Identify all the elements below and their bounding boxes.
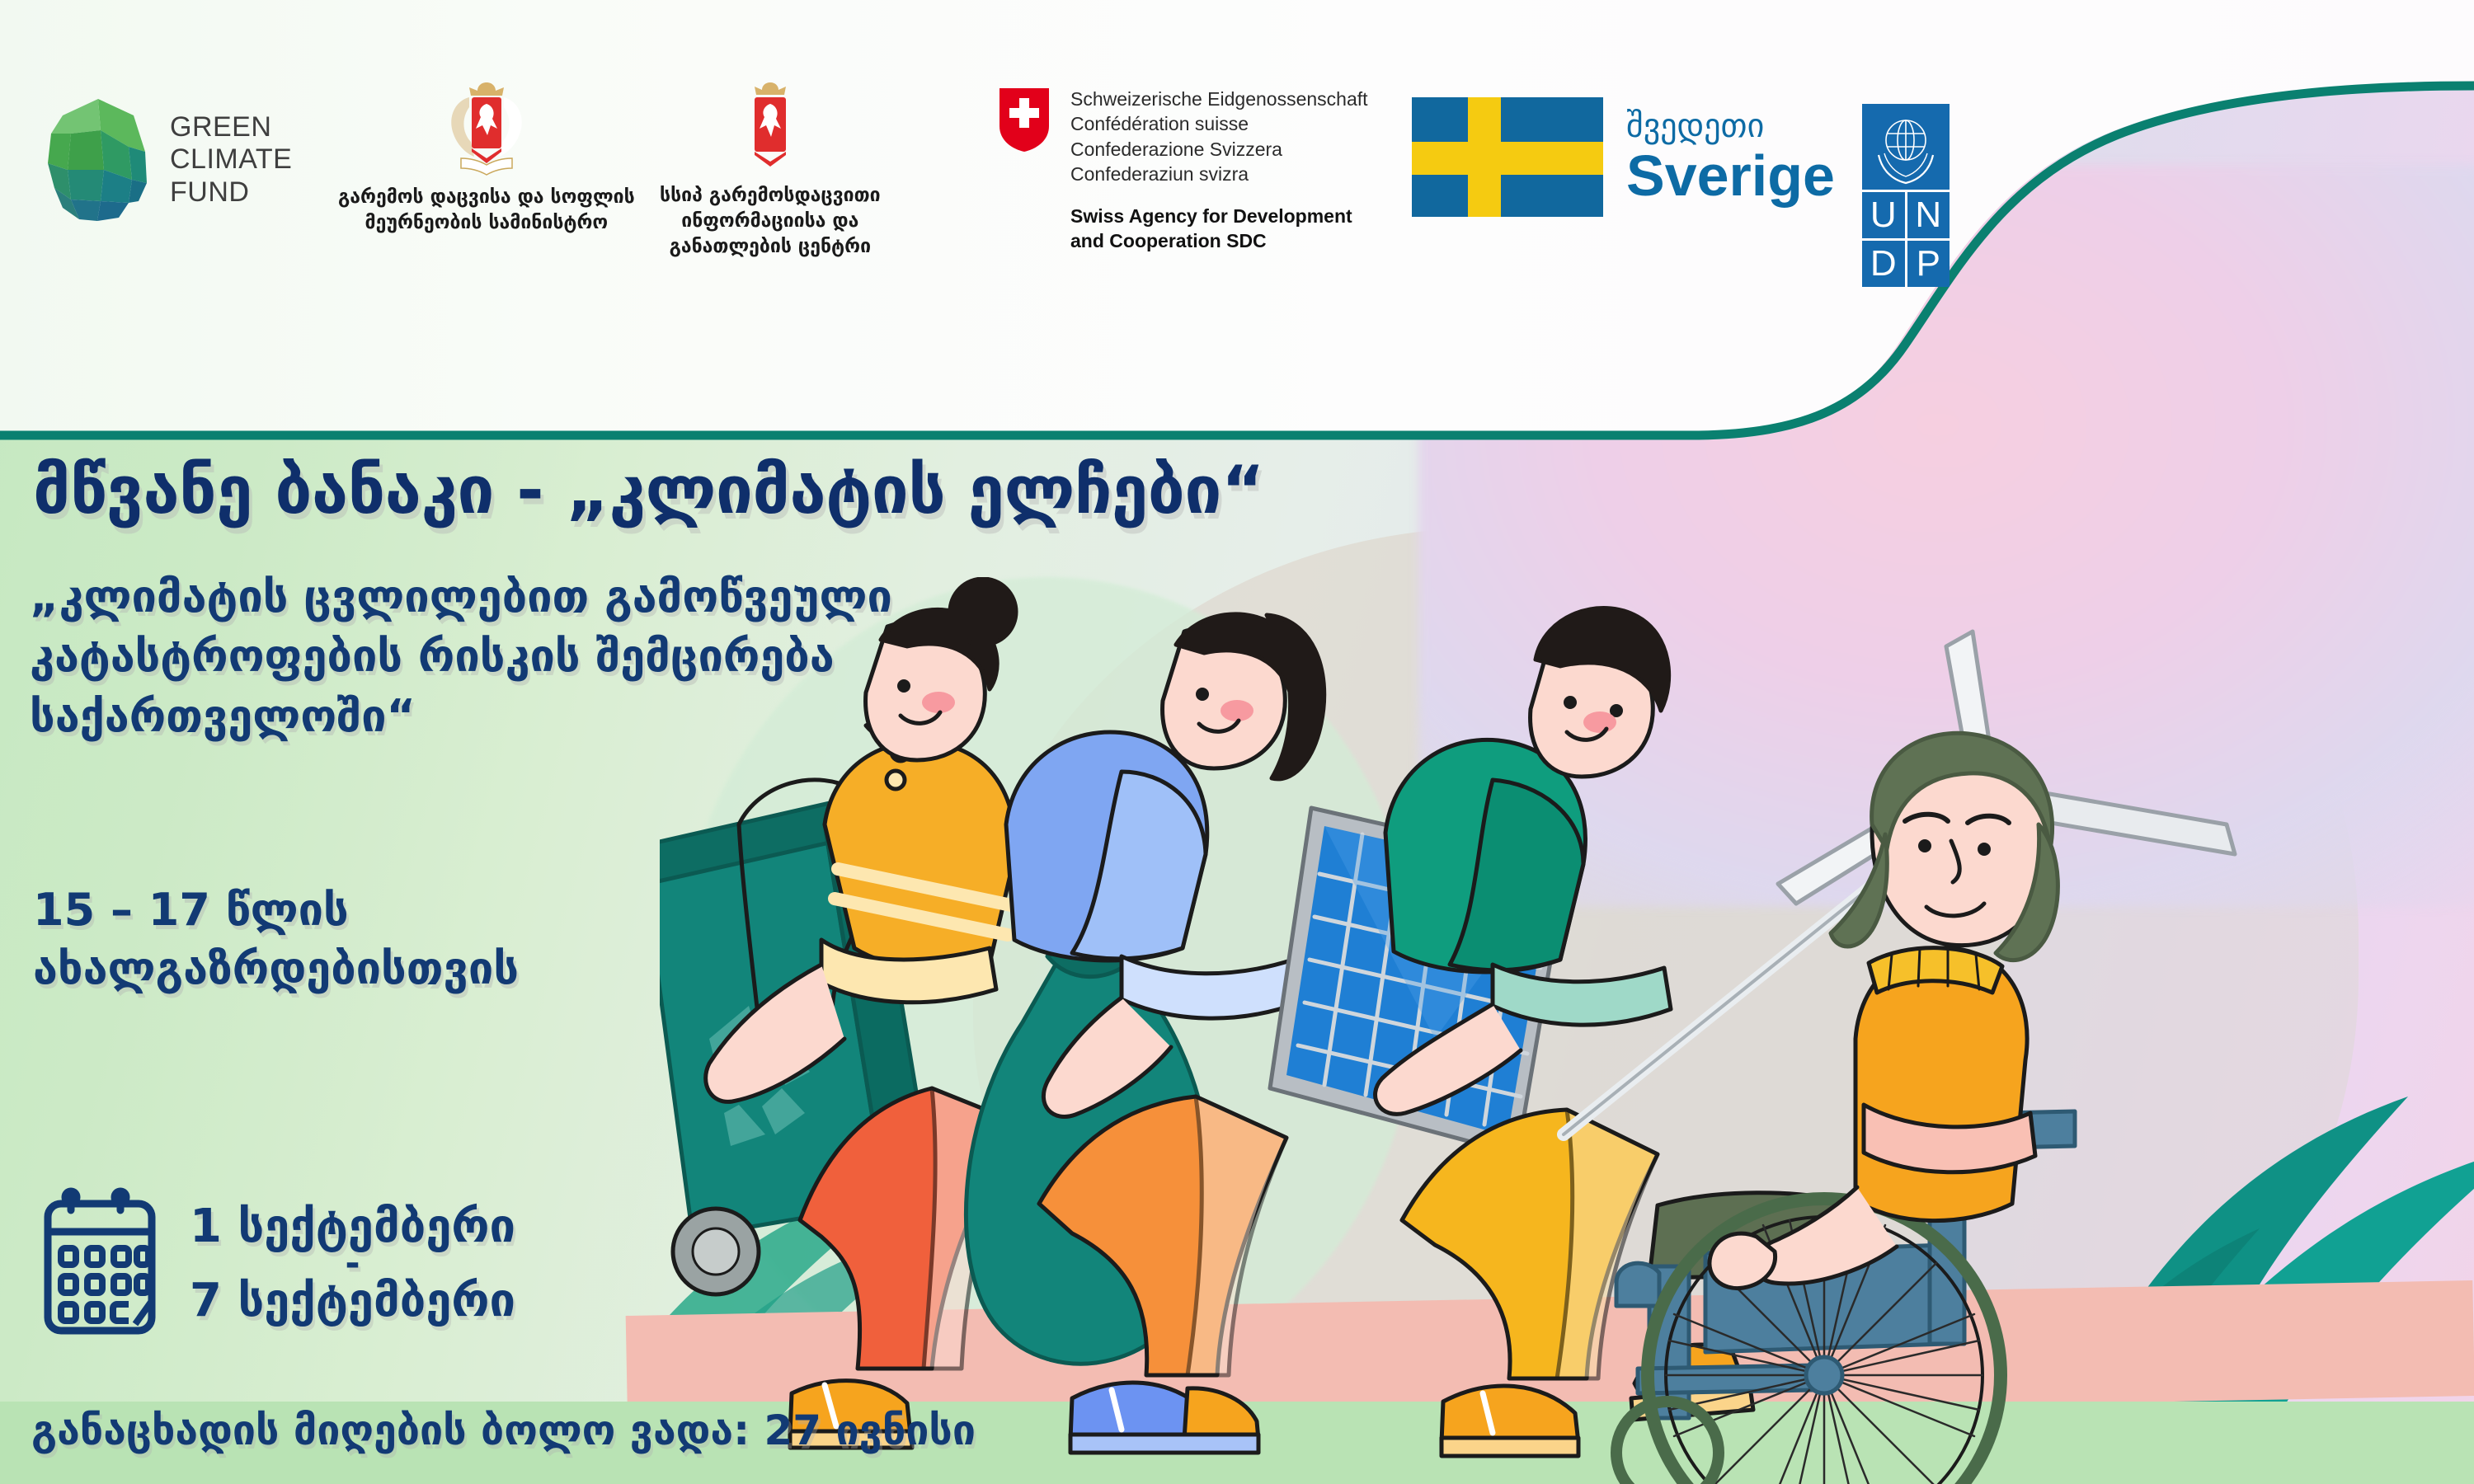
swiss-line-rm: Confederaziun svizra [1070, 162, 1368, 186]
sweden-texts: შვედეთი Sverige [1626, 108, 1835, 207]
calendar-icon [38, 1186, 162, 1342]
un-emblem-icon [1862, 104, 1950, 190]
logo-undp: U N D P [1862, 104, 1950, 287]
age-group-text: 15 – 17 წლის ახალგაზრდებისთვის [33, 881, 519, 998]
logo-green-climate-fund: GREEN CLIMATE FUND [43, 97, 292, 223]
swiss-agency-label: Swiss Agency for Development and Coopera… [1070, 204, 1368, 254]
date-row: 1 სექტემბერი - 7 სექტემბერი [38, 1186, 515, 1342]
logo-education-center: სსიპ გარემოსდაცვითი ინფორმაციისა და განა… [660, 79, 881, 260]
logo-sweden: შვედეთი Sverige [1412, 97, 1835, 217]
ministry-label: გარემოს დაცვისა და სოფლის მეურნეობის სამ… [338, 185, 635, 236]
undp-letter-n: N [1907, 192, 1950, 238]
georgia-coat-of-arms-icon [729, 79, 811, 176]
swiss-line-it: Confederazione Svizzera [1070, 137, 1368, 162]
gcf-wordmark: GREEN CLIMATE FUND [170, 111, 292, 209]
logo-ministry-environment: გარემოს დაცვისა და სოფლის მეურნეობის სამ… [338, 79, 635, 236]
sweden-label-ka: შვედეთი [1626, 108, 1835, 144]
gcf-line-2: CLIMATE [170, 143, 292, 176]
gcf-line-3: FUND [170, 176, 292, 209]
sweden-label-sv: Sverige [1626, 146, 1835, 207]
logo-strip: GREEN CLIMATE FUND [0, 0, 2029, 412]
undp-letters: U N D P [1862, 192, 1950, 287]
education-center-label: სსიპ გარემოსდაცვითი ინფორმაციისა და განა… [660, 183, 881, 260]
georgia-coat-of-arms-icon [433, 79, 540, 178]
undp-letter-d: D [1862, 241, 1905, 287]
gcf-line-1: GREEN [170, 111, 292, 143]
date-separator: - [190, 1252, 515, 1277]
sweden-flag-icon [1412, 97, 1603, 217]
illustration-group [660, 577, 2474, 1484]
undp-letter-p: P [1907, 241, 1950, 287]
swiss-line-de: Schweizerische Eidgenossenschaft [1070, 87, 1368, 111]
page-title: მწვანე ბანაკი - „კლიმატის ელჩები“ [33, 452, 1264, 528]
undp-letter-u: U [1862, 192, 1905, 238]
swiss-texts: Schweizerische Eidgenossenschaft Confédé… [1070, 87, 1368, 254]
swiss-line-fr: Confédération suisse [1070, 111, 1368, 136]
application-deadline: განაცხადის მიღების ბოლო ვადა: 27 ივნისი [31, 1407, 976, 1454]
gcf-polygon-globe-icon [43, 97, 153, 223]
header-panel: GREEN CLIMATE FUND [0, 0, 2474, 462]
poster-canvas: GREEN CLIMATE FUND [0, 0, 2474, 1484]
camp-dates: 1 სექტემბერი - 7 სექტემბერი [190, 1202, 515, 1326]
swiss-shield-icon [998, 87, 1051, 153]
project-subtitle: „კლიმატის ცვლილებით გამოწვეული კატასტროფ… [30, 567, 892, 746]
date-end: 7 სექტემბერი [190, 1274, 515, 1327]
logo-swiss-sdc: Schweizerische Eidgenossenschaft Confédé… [998, 87, 1368, 254]
